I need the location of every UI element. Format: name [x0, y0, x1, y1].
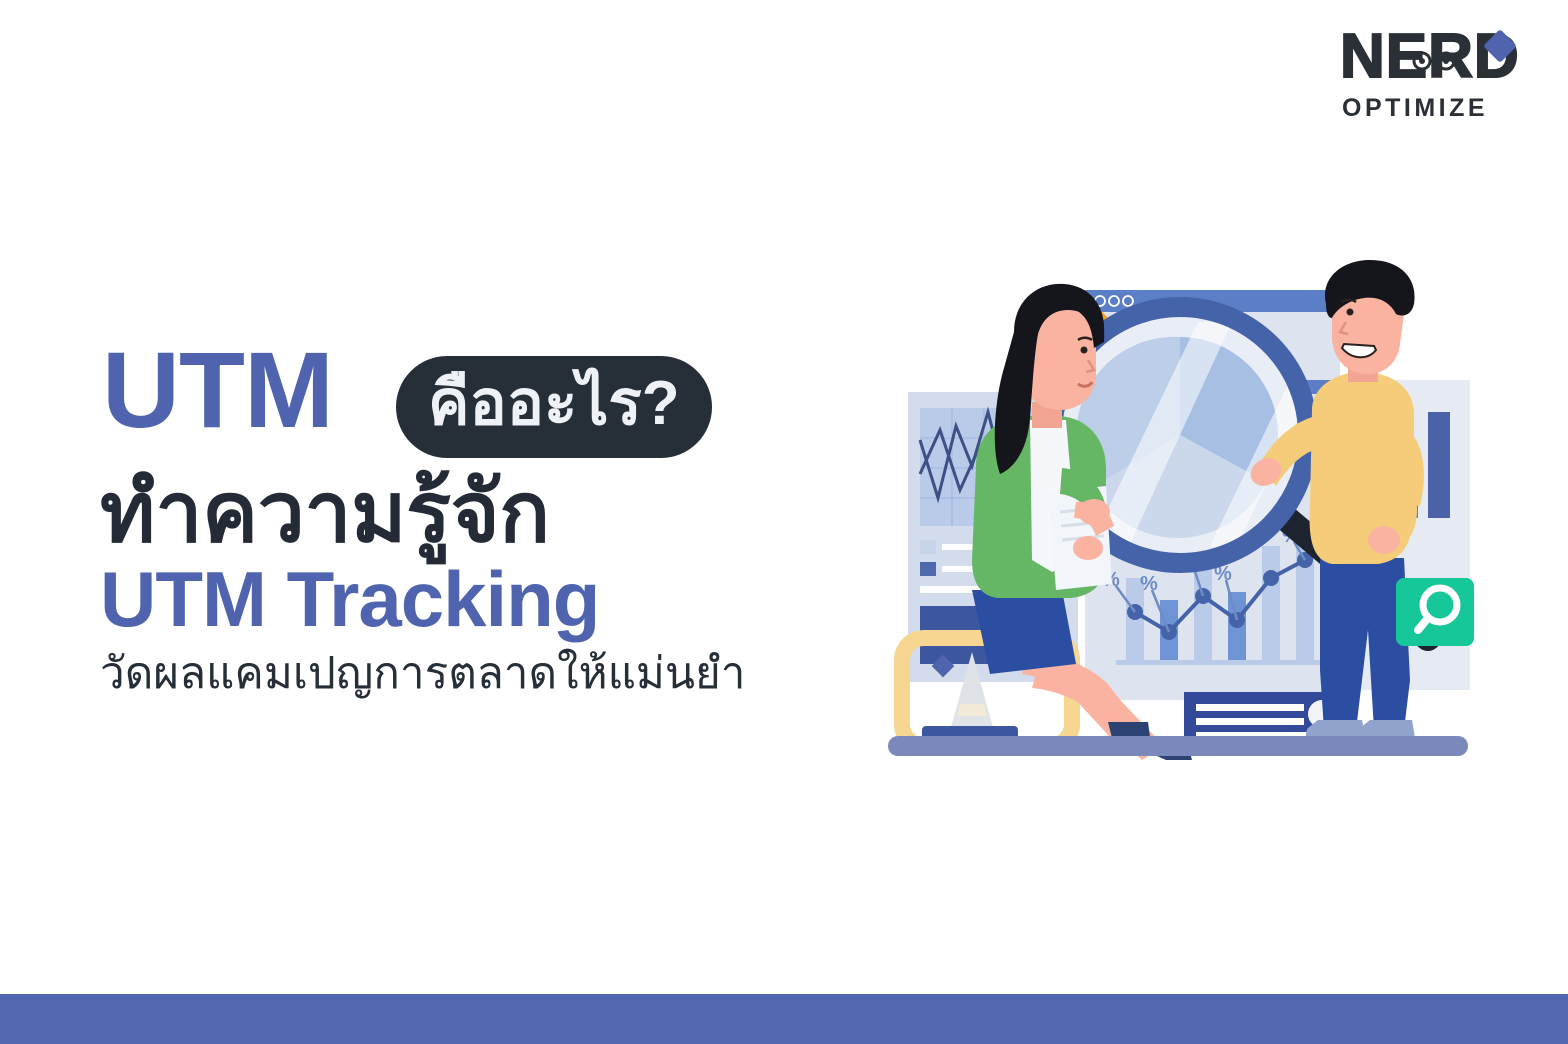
- utm-analytics-illustration: % % % % % %: [880, 260, 1500, 760]
- headline-line-4: วัดผลแคมเปญการตลาดให้แม่นยำ: [100, 646, 820, 702]
- svg-text:%: %: [1140, 573, 1158, 595]
- question-pill-label: คืออะไร?: [428, 368, 680, 440]
- illustration-svg: % % % % % %: [880, 260, 1500, 760]
- utm-title: UTM: [102, 336, 333, 444]
- headline-block: UTM คืออะไร? ทำความรู้จัก UTM Tracking ว…: [100, 340, 820, 702]
- logo-subtext: OPTIMIZE: [1342, 96, 1488, 121]
- bottom-accent-bar: [0, 994, 1568, 1044]
- poster-canvas: NERD OPTIMIZE UTM คืออะไร? ทำความรู้จัก …: [0, 0, 1568, 1044]
- headline-row-1: UTM คืออะไร?: [100, 340, 820, 460]
- ground-bar: [888, 736, 1468, 756]
- headline-line-2: ทำความรู้จัก: [100, 464, 820, 560]
- search-badge[interactable]: [1396, 578, 1474, 646]
- question-pill: คืออะไร?: [396, 356, 712, 458]
- glasses-icon: [1412, 50, 1456, 72]
- brand-logo[interactable]: NERD OPTIMIZE: [1336, 26, 1516, 134]
- headline-line-3: UTM Tracking: [100, 554, 820, 644]
